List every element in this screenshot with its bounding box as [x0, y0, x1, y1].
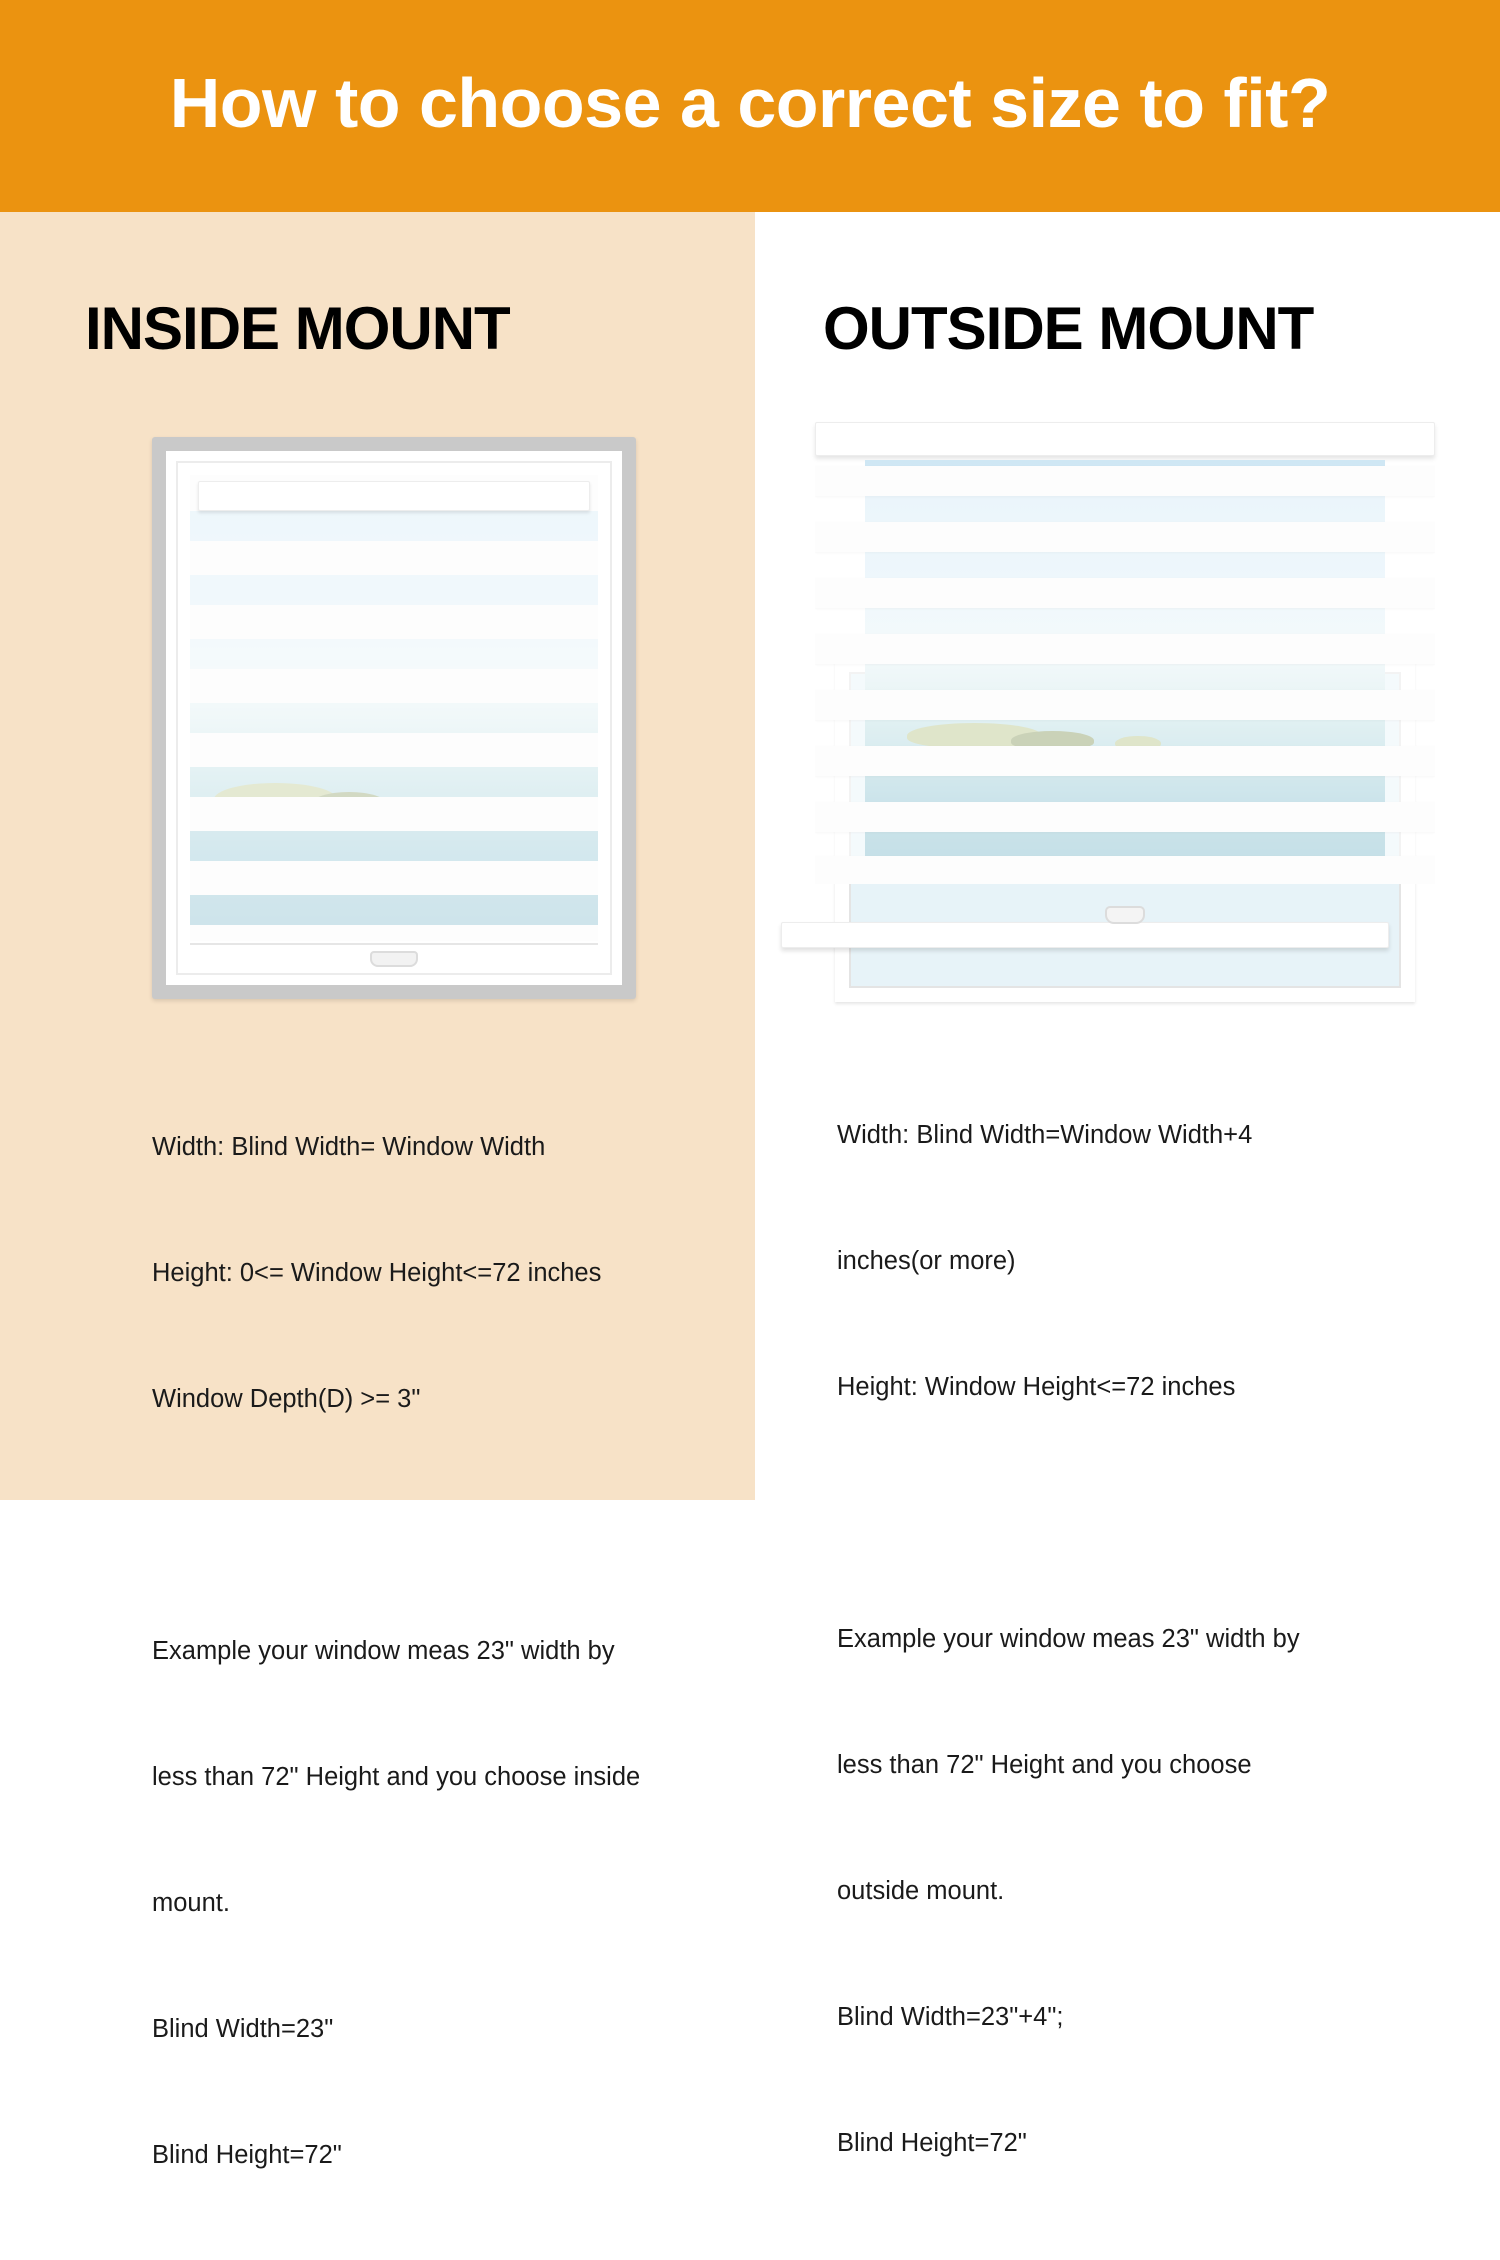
blind-slat-sheer: [190, 575, 598, 605]
example-line: outside mount.: [837, 1870, 1437, 1912]
inside-mount-caption: Width: Blind Width= Window Width Height:…: [152, 1042, 712, 2260]
blind-slat-solid: [190, 541, 598, 575]
panel-inside-mount: INSIDE MOUNT: [0, 212, 755, 1500]
example-line: less than 72" Height and you choose insi…: [152, 1756, 712, 1798]
inside-mount-illustration: [152, 437, 636, 999]
blind-slat-solid: [815, 522, 1435, 552]
blind-headrail: [198, 481, 590, 511]
blind-slat-sheer: [815, 552, 1435, 578]
example-line: Blind Height=72": [837, 2122, 1437, 2164]
example-line: Blind Height=72": [152, 2134, 712, 2176]
outside-mount-illustration: [795, 422, 1455, 1002]
panel-heading-inside-mount: INSIDE MOUNT: [85, 294, 510, 363]
blind-slat-sheer: [815, 608, 1435, 634]
example-line: less than 72" Height and you choose: [837, 1744, 1437, 1786]
blind-slat-solid: [190, 669, 598, 703]
spec-line: Height: Window Height<=72 inches: [837, 1366, 1437, 1408]
blind-slat-sheer: [815, 720, 1435, 746]
example-line: Blind Width=23"+4";: [837, 1996, 1437, 2038]
infographic-page: How to choose a correct size to fit? INS…: [0, 0, 1500, 1500]
blind-slat-solid: [815, 746, 1435, 776]
blind-slat-solid: [815, 802, 1435, 832]
blind-slat-sheer: [815, 664, 1435, 690]
blind-headrail: [815, 422, 1435, 456]
blind-slat-sheer: [190, 639, 598, 669]
caption-spacer: [152, 1504, 712, 1546]
blind-slat-solid: [190, 861, 598, 895]
blind-slat-sheer: [815, 776, 1435, 802]
blind-slats: [190, 475, 598, 941]
panels-container: INSIDE MOUNT: [0, 212, 1500, 1500]
example-line: Example your window meas 23" width by: [837, 1618, 1437, 1660]
example-line: mount.: [152, 1882, 712, 1924]
blind-slat-sheer: [190, 831, 598, 861]
blind-slat-solid: [815, 578, 1435, 608]
blind-slat-sheer: [815, 496, 1435, 522]
window-handle: [370, 951, 418, 967]
page-title: How to choose a correct size to fit?: [170, 68, 1331, 138]
blind-slat-solid: [190, 925, 598, 941]
window-frame: [166, 451, 622, 985]
example-line: Blind Width=23": [152, 2008, 712, 2050]
window-glass: [190, 475, 598, 941]
blind-slat-solid: [190, 797, 598, 831]
example-line: Example your window meas 23" width by: [152, 1630, 712, 1672]
outside-mount-caption: Width: Blind Width=Window Width+4 inches…: [837, 1030, 1437, 2248]
blind-slat-sheer: [190, 511, 598, 541]
blind-slat-solid: [815, 634, 1435, 664]
blind-slat-solid: [815, 690, 1435, 720]
blind-slat-sheer: [190, 703, 598, 733]
spec-line: Height: 0<= Window Height<=72 inches: [152, 1252, 712, 1294]
window-sill: [781, 922, 1389, 948]
header-banner: How to choose a correct size to fit?: [0, 0, 1500, 212]
blind-slat-sheer: [190, 895, 598, 925]
blind-slat-solid: [190, 733, 598, 767]
spec-line: Width: Blind Width=Window Width+4: [837, 1114, 1437, 1156]
blind-slat-sheer: [190, 767, 598, 797]
window-handle: [1105, 906, 1145, 924]
blind-slat-sheer: [815, 832, 1435, 858]
spec-line: inches(or more): [837, 1240, 1437, 1282]
caption-spacer: [837, 1492, 1437, 1534]
panel-outside-mount: OUTSIDE MOUNT: [755, 212, 1500, 1500]
blind-slat-solid: [190, 605, 598, 639]
blind-slat-solid: [815, 466, 1435, 496]
panel-heading-outside-mount: OUTSIDE MOUNT: [823, 294, 1313, 363]
spec-line: Window Depth(D) >= 3": [152, 1378, 712, 1420]
spec-line: Width: Blind Width= Window Width: [152, 1126, 712, 1168]
blind-slats: [815, 460, 1435, 884]
blind-slat-solid: [815, 856, 1435, 884]
blind-assembly: [815, 460, 1435, 884]
